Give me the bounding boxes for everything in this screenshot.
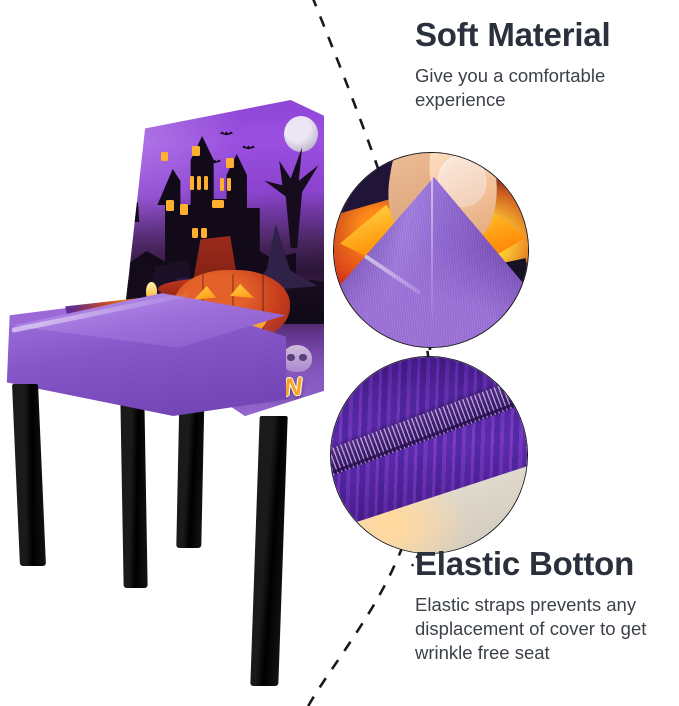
feature-elastic-bottom: Elastic Botton Elastic straps prevents a… [415,547,667,666]
castle-window [201,228,207,238]
infographic-page: HALLOWEEN Soft Material Give you a comfo… [0,0,679,706]
castle-window [197,176,201,190]
feature-title-soft-material: Soft Material [415,18,667,53]
castle-window [204,176,208,190]
chair-leg-front-right [250,416,287,686]
castle-window [190,176,194,190]
feature-body-elastic-bottom: Elastic straps prevents any displacement… [415,593,667,666]
elastic-photo-inner [331,357,527,553]
detail-photo-soft-material [333,152,529,348]
feature-body-soft-material: Give you a comfortable experience [415,64,667,113]
castle-window [166,200,174,211]
soft-material-photo-inner [334,153,528,347]
castle-window [192,146,200,156]
cat-eye [131,201,135,205]
castle-window [220,178,224,191]
castle-window [192,228,198,238]
castle-window [212,200,224,208]
feature-title-elastic-bottom: Elastic Botton [415,547,667,582]
castle-window [180,204,188,215]
fabric-ridge [431,179,433,329]
castle-window [161,152,168,161]
castle-window [227,178,231,191]
product-chair-image: HALLOWEEN [0,86,320,646]
castle-window [226,158,234,168]
grave-cross-icon [138,258,141,274]
divider-path [306,0,431,706]
detail-photo-elastic-bottom [330,356,528,554]
chair-leg-back-left [120,398,147,588]
feature-soft-material: Soft Material Give you a comfortable exp… [415,18,667,112]
chair-leg-front-left [12,384,46,566]
